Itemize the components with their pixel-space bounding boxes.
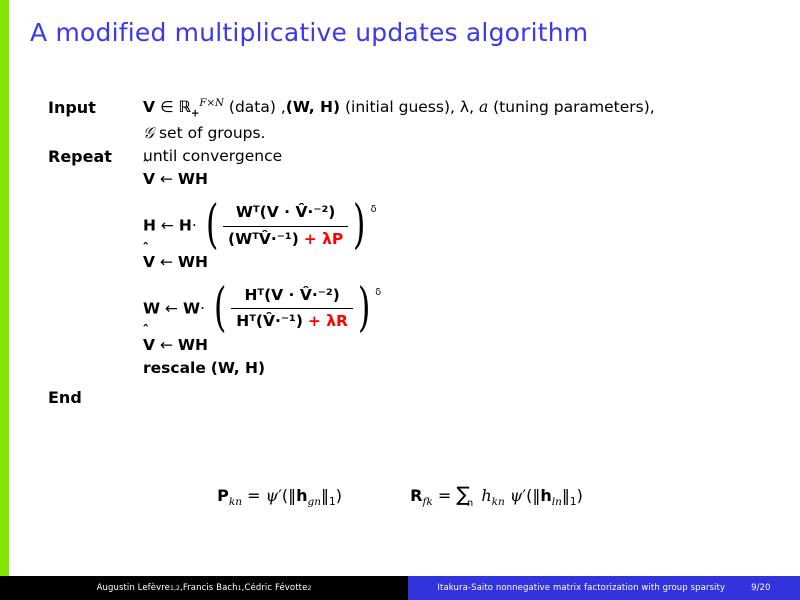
element-of-icon: ∈ xyxy=(160,98,174,116)
h-update-exponent: δ xyxy=(371,203,377,217)
real-set-subscript: + xyxy=(191,108,200,119)
p-paren-close: ) xyxy=(336,486,342,505)
author-1-name: Augustin Lefèvre xyxy=(97,583,170,593)
h-vector-symbol: h xyxy=(296,486,307,505)
author-2-name: Francis Bach xyxy=(183,583,238,593)
equals-icon: = xyxy=(438,486,451,505)
elementwise-dot-icon: · xyxy=(200,299,205,317)
p-norm-close: ‖ xyxy=(321,486,329,505)
h-ln-symbol: h xyxy=(540,486,551,505)
w-update-denominator-main: Hᵀ(V̂·⁻¹) xyxy=(236,312,303,330)
h-update-denominator: (WᵀV̂·⁻¹) + λP xyxy=(223,226,348,251)
footer-authors: Augustin Lefèvre1,2, Francis Bach1, Cédr… xyxy=(0,576,408,600)
w-update-factor: W xyxy=(183,299,200,317)
slide-title: A modified multiplicative updates algori… xyxy=(30,18,588,47)
v-hat-symbol: ̂V xyxy=(143,251,155,274)
hat-accent-icon: ̂ xyxy=(143,325,155,338)
h-update-lhs: H xyxy=(143,217,156,235)
w-update-denominator: Hᵀ(V̂·⁻¹) + λR xyxy=(231,308,353,333)
left-paren-icon: ( xyxy=(214,284,227,333)
real-set-symbol: ℝ xyxy=(178,98,190,116)
w-update-numerator: Hᵀ(V · V̂·⁻²) xyxy=(239,284,344,308)
right-paren-icon: ) xyxy=(358,284,371,333)
left-paren-icon: ( xyxy=(206,201,219,250)
formula-r: Rfk = ∑n hkn ψ′(‖hln‖1) xyxy=(410,486,583,505)
r-norm-order: 1 xyxy=(570,496,577,508)
groups-set-text: set of groups. xyxy=(159,124,266,142)
r-paren-close: ) xyxy=(577,486,583,505)
r-norm-open: (‖ xyxy=(526,486,540,505)
h-update-numerator: Wᵀ(V · V̂·⁻²) xyxy=(231,201,340,225)
assign-arrow-icon: ← xyxy=(160,253,173,271)
w-update-penalty-term: + λR xyxy=(308,312,348,330)
formula-p: Pkn = ψ′(‖hgn‖1) xyxy=(217,486,347,505)
equals-icon: = xyxy=(247,486,260,505)
wh-product: WH xyxy=(178,253,208,271)
h-kn-symbol: h xyxy=(481,486,491,505)
assign-arrow-icon: ← xyxy=(160,170,173,188)
keyword-repeat: Repeat xyxy=(48,145,143,168)
w-update-exponent: δ xyxy=(375,286,381,300)
step-w-update: W ← W· ( Hᵀ(V · V̂·⁻²) Hᵀ(V̂·⁻¹) + λR ) … xyxy=(143,284,778,334)
r-symbol: R xyxy=(410,486,422,505)
h-update-fraction: Wᵀ(V · V̂·⁻²) (WᵀV̂·⁻¹) + λP xyxy=(223,201,348,251)
lambda-symbol: λ xyxy=(460,98,469,116)
author-3-affiliation: 2 xyxy=(307,585,311,592)
algorithm-block: Input V ∈ ℝ+F×N (data) ,(W, H) (initial … xyxy=(48,96,778,409)
author-1-affiliation: 1,2 xyxy=(170,585,180,592)
hat-accent-icon: ̂ xyxy=(143,243,155,256)
p-norm-order: 1 xyxy=(329,496,336,508)
p-norm-open: (‖ xyxy=(282,486,296,505)
summation-icon: ∑n xyxy=(456,482,476,509)
footer-paper-info: Itakura-Saito nonnegative matrix factori… xyxy=(408,576,800,600)
w-update-fraction-expression: ( Hᵀ(V · V̂·⁻²) Hᵀ(V̂·⁻¹) + λR ) δ xyxy=(210,284,381,334)
hat-accent-icon: ̂ xyxy=(143,160,155,173)
input-data-note: (data) , xyxy=(229,98,286,116)
wh-product: WH xyxy=(178,170,208,188)
r-subscript: fk xyxy=(423,496,433,508)
psi-symbol: ψ xyxy=(266,486,279,505)
algorithm-repeat-row: Repeat until convergence ̂V ← WH H ← H· … xyxy=(48,145,778,380)
r-norm-close: ‖ xyxy=(562,486,570,505)
algorithm-end-row: End xyxy=(48,386,778,409)
psi-symbol: ψ xyxy=(510,486,523,505)
rescale-label: rescale xyxy=(143,359,206,377)
groups-set-symbol: 𝒢 xyxy=(143,124,154,142)
p-symbol: P xyxy=(217,486,229,505)
input-tuning-note: (tuning parameters), xyxy=(493,98,655,116)
elementwise-dot-icon: · xyxy=(192,217,197,235)
step-vhat-assign-2: ̂V ← WH xyxy=(143,251,778,274)
v-hat-symbol: ̂V xyxy=(143,168,155,191)
h-update-denominator-main: (WᵀV̂·⁻¹) xyxy=(228,230,299,248)
wh-product: WH xyxy=(178,336,208,354)
v-hat-symbol: ̂V xyxy=(143,334,155,357)
step-rescale: rescale (W, H) xyxy=(143,357,778,380)
w-update-lhs: W xyxy=(143,299,160,317)
matrix-v-symbol: V xyxy=(143,98,155,116)
step-vhat-assign-1: ̂V ← WH xyxy=(143,168,778,191)
display-formulas: Pkn = ψ′(‖hgn‖1) Rfk = ∑n hkn ψ′(‖hln‖1) xyxy=(0,482,800,509)
right-paren-icon: ) xyxy=(353,201,366,250)
repeat-condition: until convergence xyxy=(143,145,778,168)
assign-arrow-icon: ← xyxy=(160,336,173,354)
h-ln-subscript: ln xyxy=(552,496,562,508)
step-vhat-assign-3: ̂V ← WH xyxy=(143,334,778,357)
keyword-end: End xyxy=(48,386,143,409)
input-line-1: V ∈ ℝ+F×N (data) ,(W, H) (initial guess)… xyxy=(143,96,778,122)
wh-pair: (W, H) xyxy=(286,98,340,116)
h-vector-subscript: gn xyxy=(307,496,321,508)
assign-arrow-icon: ← xyxy=(165,299,178,317)
input-guess-note: (initial guess), xyxy=(345,98,455,116)
repeat-body: until convergence ̂V ← WH H ← H· ( Wᵀ(V … xyxy=(143,145,778,380)
slide-footer: Augustin Lefèvre1,2, Francis Bach1, Cédr… xyxy=(0,576,800,600)
input-comma: , xyxy=(469,98,474,116)
footer-page-number: 9/20 xyxy=(751,583,771,593)
input-body: V ∈ ℝ+F×N (data) ,(W, H) (initial guess)… xyxy=(143,96,778,145)
rescale-args: (W, H) xyxy=(211,359,265,377)
h-update-factor: H xyxy=(179,217,192,235)
keyword-input: Input xyxy=(48,96,143,119)
h-update-penalty-term: + λP xyxy=(304,230,344,248)
p-subscript: kn xyxy=(229,496,242,508)
input-line-2: 𝒢 set of groups. xyxy=(143,122,778,145)
summation-index: n xyxy=(467,498,473,509)
h-update-fraction-expression: ( Wᵀ(V · V̂·⁻²) (WᵀV̂·⁻¹) + λP ) δ xyxy=(202,201,377,251)
w-update-fraction: Hᵀ(V · V̂·⁻²) Hᵀ(V̂·⁻¹) + λR xyxy=(231,284,353,334)
step-h-update: H ← H· ( Wᵀ(V · V̂·⁻²) (WᵀV̂·⁻¹) + λP ) … xyxy=(143,201,778,251)
algorithm-input-row: Input V ∈ ℝ+F×N (data) ,(W, H) (initial … xyxy=(48,96,778,145)
a-parameter-symbol: a xyxy=(479,98,488,116)
author-3-name: Cédric Févotte xyxy=(244,583,307,593)
assign-arrow-icon: ← xyxy=(161,217,174,235)
h-kn-subscript: kn xyxy=(492,496,505,508)
footer-paper-title: Itakura-Saito nonnegative matrix factori… xyxy=(437,583,725,593)
real-set-superscript: F×N xyxy=(199,98,224,109)
